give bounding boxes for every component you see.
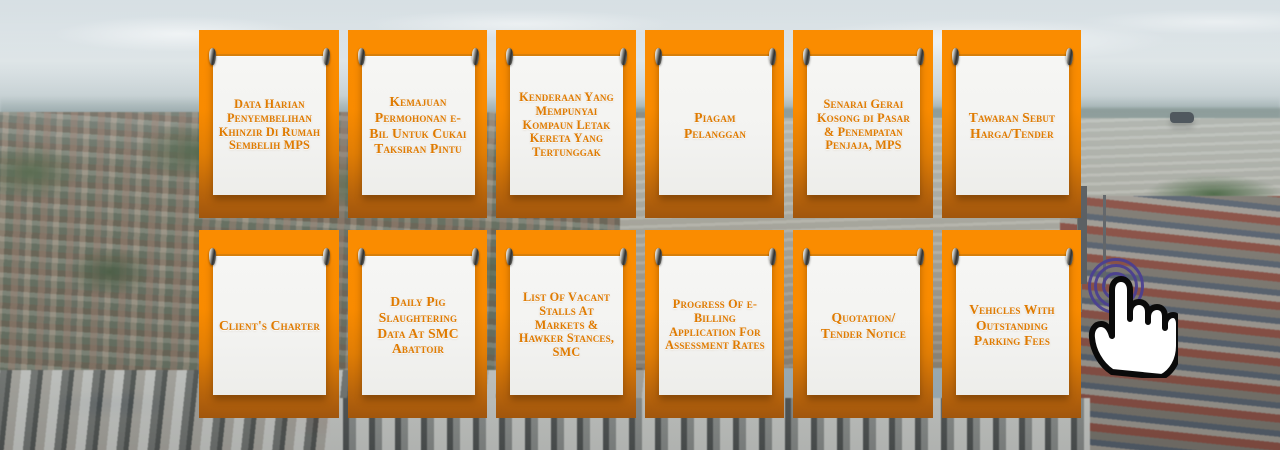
paper-clip-icon [655, 248, 662, 265]
card-title: Vehicles With Outstanding Parking Fees [961, 302, 1064, 349]
card-title: Quotation/ Tender Notice [812, 310, 915, 341]
service-card[interactable]: Senarai Gerai Kosong di Pasar & Penempat… [793, 30, 933, 218]
paper-clip-icon [323, 48, 330, 65]
paper-sheet: Quotation/ Tender Notice [807, 256, 920, 395]
paper-clip-icon [769, 248, 776, 265]
page-root: Data Harian Penyembelihan Khinzir Di Rum… [0, 0, 1280, 450]
service-card[interactable]: Kenderaan Yang Mempunyai Kompaun Letak K… [496, 30, 636, 218]
paper-clip-icon [1066, 248, 1073, 265]
paper-sheet: Piagam Pelanggan [659, 56, 772, 195]
paper-sheet: Data Harian Penyembelihan Khinzir Di Rum… [213, 56, 326, 195]
card-row-1: Data Harian Penyembelihan Khinzir Di Rum… [199, 30, 1081, 218]
paper-clip-icon [472, 248, 479, 265]
service-card[interactable]: Progress Of e-Billing Application For As… [645, 230, 785, 418]
paper-clip-icon [358, 48, 365, 65]
card-title: Kemajuan Permohonan e-Bil Untuk Cukai Ta… [367, 94, 470, 157]
container-port-region [1060, 196, 1280, 450]
paper-sheet: Kenderaan Yang Mempunyai Kompaun Letak K… [510, 56, 623, 195]
paper-clip-icon [952, 48, 959, 65]
service-card[interactable]: Client's Charter [199, 230, 339, 418]
service-card[interactable]: Piagam Pelanggan [645, 30, 785, 218]
service-card-grid: Data Harian Penyembelihan Khinzir Di Rum… [199, 30, 1081, 418]
paper-clip-icon [209, 48, 216, 65]
paper-sheet: Client's Charter [213, 256, 326, 395]
paper-clip-icon [952, 248, 959, 265]
paper-sheet: Kemajuan Permohonan e-Bil Untuk Cukai Ta… [362, 56, 475, 195]
paper-sheet: Tawaran Sebut Harga/Tender [956, 56, 1069, 195]
service-card[interactable]: List Of Vacant Stalls At Markets & Hawke… [496, 230, 636, 418]
paper-clip-icon [917, 48, 924, 65]
card-title: List Of Vacant Stalls At Markets & Hawke… [515, 291, 618, 361]
service-card[interactable]: Kemajuan Permohonan e-Bil Untuk Cukai Ta… [348, 30, 488, 218]
card-title: Kenderaan Yang Mempunyai Kompaun Letak K… [515, 91, 618, 161]
service-card[interactable]: Quotation/ Tender Notice [793, 230, 933, 418]
paper-clip-icon [655, 48, 662, 65]
paper-clip-icon [803, 48, 810, 65]
card-title: Progress Of e-Billing Application For As… [664, 298, 767, 354]
paper-clip-icon [803, 248, 810, 265]
paper-clip-icon [917, 248, 924, 265]
card-title: Data Harian Penyembelihan Khinzir Di Rum… [218, 98, 321, 154]
service-card[interactable]: Vehicles With Outstanding Parking Fees [942, 230, 1082, 418]
card-row-2: Client's Charter Daily Pig Slaughtering … [199, 230, 1081, 418]
paper-sheet: Senarai Gerai Kosong di Pasar & Penempat… [807, 56, 920, 195]
paper-clip-icon [620, 48, 627, 65]
paper-clip-icon [472, 48, 479, 65]
paper-clip-icon [209, 248, 216, 265]
paper-sheet: Vehicles With Outstanding Parking Fees [956, 256, 1069, 395]
service-card[interactable]: Data Harian Penyembelihan Khinzir Di Rum… [199, 30, 339, 218]
paper-clip-icon [506, 248, 513, 265]
card-title: Senarai Gerai Kosong di Pasar & Penempat… [812, 98, 915, 154]
service-card[interactable]: Tawaran Sebut Harga/Tender [942, 30, 1082, 218]
paper-clip-icon [1066, 48, 1073, 65]
paper-clip-icon [358, 248, 365, 265]
paper-clip-icon [769, 48, 776, 65]
paper-sheet: Daily Pig Slaughtering Data At SMC Abatt… [362, 256, 475, 395]
paper-clip-icon [620, 248, 627, 265]
river-boat [1170, 112, 1194, 123]
card-title: Piagam Pelanggan [664, 110, 767, 141]
paper-clip-icon [506, 48, 513, 65]
service-card[interactable]: Daily Pig Slaughtering Data At SMC Abatt… [348, 230, 488, 418]
paper-sheet: Progress Of e-Billing Application For As… [659, 256, 772, 395]
paper-clip-icon [323, 248, 330, 265]
card-title: Tawaran Sebut Harga/Tender [961, 110, 1064, 141]
paper-sheet: List Of Vacant Stalls At Markets & Hawke… [510, 256, 623, 395]
card-title: Client's Charter [219, 318, 320, 334]
card-title: Daily Pig Slaughtering Data At SMC Abatt… [367, 294, 470, 357]
